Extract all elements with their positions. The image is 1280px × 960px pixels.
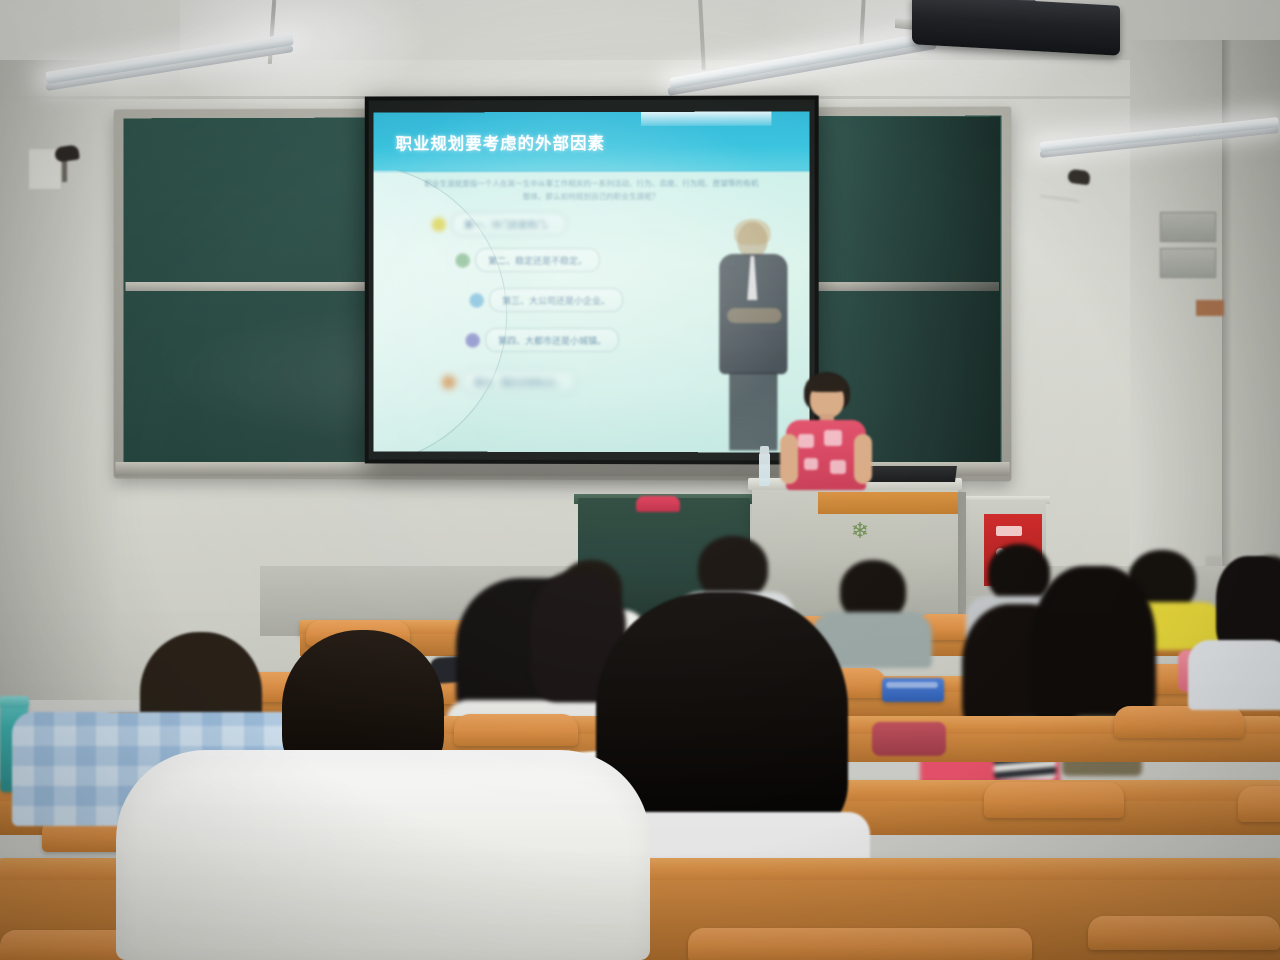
wall-marker	[1196, 300, 1224, 316]
laptop	[861, 466, 957, 482]
slide-bullet-dot	[455, 253, 470, 268]
classroom-photo: 职业规划要考虑的外部因素 职业生涯就是指一个人在其一生中从事工作相关的一系列活动…	[0, 0, 1280, 960]
lecturer	[780, 372, 870, 490]
slide-bullet-1: 第一、冷门还是热门。	[431, 212, 567, 236]
slide-bullet-label: 第五、国企还是私企。	[461, 370, 577, 394]
wall-panel	[1160, 248, 1216, 278]
lecturer-pattern	[798, 434, 814, 448]
lecturer-fringe	[806, 376, 848, 392]
slide-bullet-dot	[469, 292, 484, 307]
projected-slide: 职业规划要考虑的外部因素 职业生涯就是指一个人在其一生中从事工作相关的一系列活动…	[374, 111, 810, 452]
chair	[1088, 916, 1280, 950]
bottle-cap	[760, 446, 769, 454]
school-emblem-icon: ❄	[846, 518, 874, 544]
red-bag	[636, 496, 680, 512]
lecturer-arm-right	[854, 434, 872, 484]
slide-person-head	[737, 222, 767, 258]
slide-bullet-label: 第四、大都市还是小城镇。	[485, 328, 619, 352]
chair	[984, 782, 1124, 818]
slide-bullet-label: 第一、冷门还是热门。	[451, 212, 567, 236]
slide-header-notch	[641, 112, 771, 126]
podium-wood-band	[818, 492, 958, 514]
chair	[1114, 706, 1244, 738]
slide-bullet-5: 第五、国企还是私企。	[441, 370, 577, 394]
security-camera-icon	[1067, 169, 1091, 186]
chair	[1238, 786, 1280, 822]
water-bottle	[759, 452, 770, 486]
pink-bag	[872, 722, 946, 756]
slide-bullet-label: 第三、大公司还是小企业。	[489, 288, 623, 312]
slide-body-text: 职业生涯就是指一个人在其一生中从事工作相关的一系列活动、行为、态度、行为观、愿望…	[421, 178, 761, 203]
lecturer-pattern	[830, 460, 846, 474]
thermos-cap	[0, 696, 29, 708]
chair	[688, 928, 1032, 960]
pencil-case-highlight	[886, 682, 938, 688]
slide-person-legs	[729, 372, 777, 450]
slide-person-arms	[727, 308, 781, 323]
slide-bullet-dot	[465, 332, 480, 347]
slide-bullet-label: 第二、稳定还是不稳定。	[475, 248, 600, 272]
lecturer-pattern	[804, 458, 818, 470]
slide-title: 职业规划要考虑的外部因素	[396, 130, 605, 154]
slide-bullet-2: 第二、稳定还是不稳定。	[455, 248, 600, 272]
chair	[454, 714, 578, 746]
lecturer-pattern	[824, 430, 842, 446]
wall-panel	[1160, 212, 1216, 242]
slide-bullet-3: 第三、大公司还是小企业。	[469, 288, 623, 312]
slide-bullet-dot	[431, 217, 446, 232]
slide-bullet-dot	[441, 374, 456, 389]
lecturer-arm-left	[780, 434, 798, 484]
slide-bullet-4: 第四、大都市还是小城镇。	[465, 328, 619, 352]
fire-box-label	[996, 526, 1022, 536]
